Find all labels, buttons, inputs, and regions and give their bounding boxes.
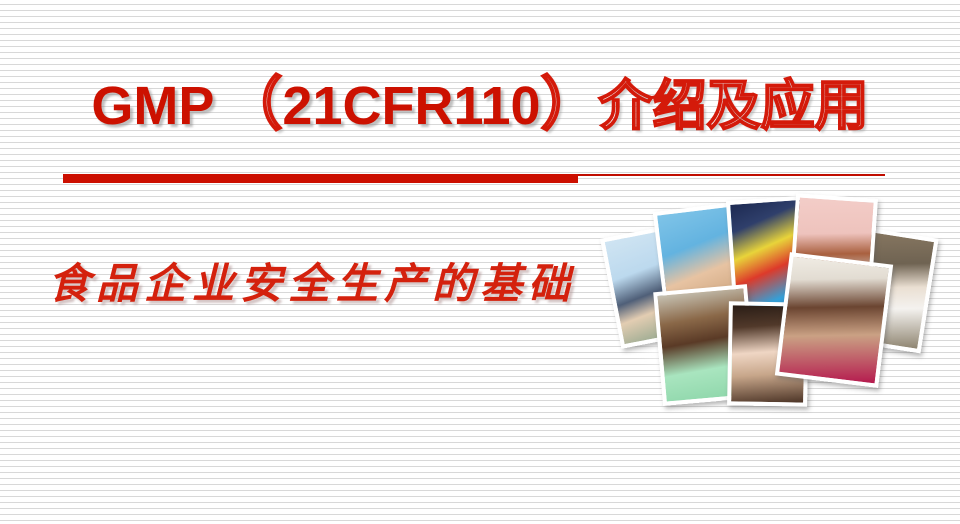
- title-segment-code: 21CFR110: [282, 68, 540, 144]
- photo-girl-magenta-top: [775, 252, 893, 388]
- title-paren-open: （: [224, 66, 282, 142]
- title-paren-close: ）: [541, 66, 599, 142]
- title-segment-latin: GMP: [91, 68, 214, 144]
- title-segment-chinese: 介绍及应用: [599, 68, 869, 144]
- divider-thick-bar: [63, 174, 578, 183]
- slide-canvas: GMP（21CFR110）介绍及应用 食品企业安全生产的基础: [0, 0, 960, 524]
- photo-image: [779, 257, 888, 384]
- title-divider: [63, 174, 885, 184]
- subtitle-text: 食品企业安全生产的基础: [48, 255, 588, 313]
- photo-collage: [606, 196, 892, 396]
- page-title: GMP（21CFR110）介绍及应用: [0, 66, 960, 142]
